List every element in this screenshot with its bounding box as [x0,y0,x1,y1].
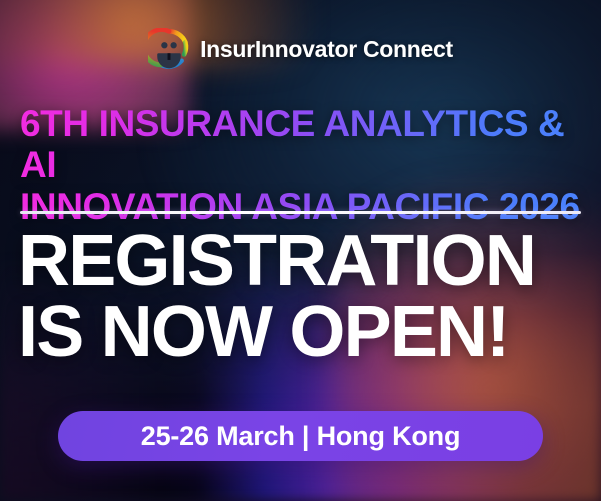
people-circle-logo-icon [148,28,190,70]
event-title: 6TH INSURANCE ANALYTICS & AI INNOVATION … [20,103,581,227]
event-title-line-1: 6TH INSURANCE ANALYTICS & AI [20,103,581,186]
headline: REGISTRATION IS NOW OPEN! [18,228,583,366]
brand-lockup: InsurInnovator Connect [0,28,601,70]
horizontal-divider [20,211,581,214]
brand-name: InsurInnovator Connect [200,36,453,63]
date-location-pill[interactable]: 25-26 March | Hong Kong [58,411,543,461]
headline-line-1: REGISTRATION [18,228,583,295]
date-location-label: 25-26 March | Hong Kong [141,421,461,452]
event-promo-banner: InsurInnovator Connect 6TH INSURANCE ANA… [0,0,601,501]
banner-content: InsurInnovator Connect 6TH INSURANCE ANA… [0,0,601,501]
headline-line-2: IS NOW OPEN! [18,299,583,366]
